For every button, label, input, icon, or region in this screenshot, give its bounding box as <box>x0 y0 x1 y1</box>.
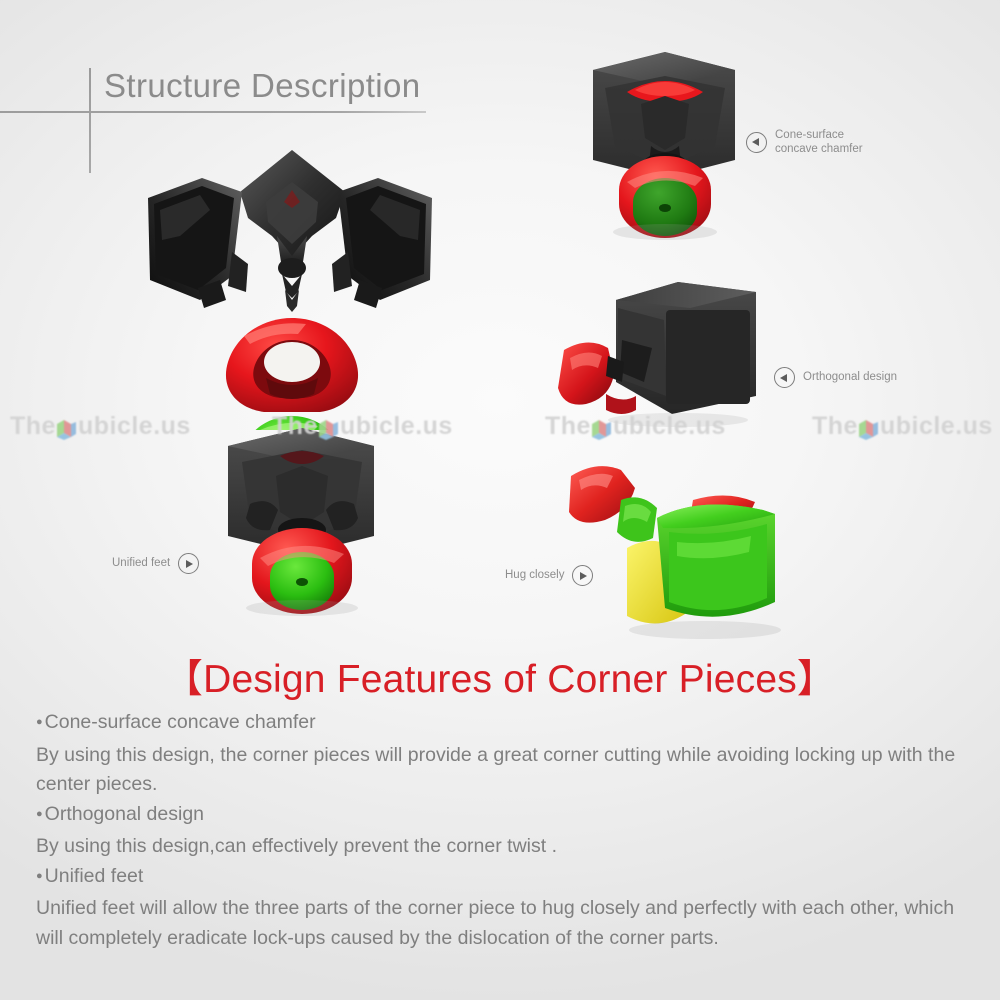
watermark-suffix: ubicle.us <box>340 412 453 441</box>
watermark-prefix: The <box>812 412 858 441</box>
callout-orthogonal-design[interactable]: Orthogonal design <box>774 367 897 388</box>
feature-text-2: By using this design,can effectively pre… <box>36 832 971 862</box>
watermark: The ubicle.us <box>545 412 726 441</box>
watermark-prefix: The <box>272 412 318 441</box>
watermark-suffix: ubicle.us <box>880 412 993 441</box>
feature-bullet-3: Unified feet <box>36 862 971 895</box>
figure-orthogonal-piece <box>548 278 778 428</box>
feature-text-1: By using this design, the corner pieces … <box>36 741 971 800</box>
cube-logo-icon <box>591 418 612 439</box>
cube-logo-icon <box>318 418 339 439</box>
play-right-icon[interactable] <box>572 565 593 586</box>
part-black-right <box>332 178 432 308</box>
header-vertical-rule <box>89 68 91 173</box>
page-title: Structure Description <box>104 67 421 105</box>
callout-unified-feet[interactable]: Unified feet <box>112 553 199 574</box>
watermark: The ubicle.us <box>272 412 453 441</box>
part-red-ring <box>226 318 358 412</box>
callout-ortho-label: Orthogonal design <box>803 370 897 384</box>
callout-cone-label: Cone-surface concave chamfer <box>775 128 863 157</box>
header-horizontal-rule <box>0 111 426 113</box>
cube-logo-icon <box>858 418 879 439</box>
play-right-icon[interactable] <box>178 553 199 574</box>
feature-bullet-1: Cone-surface concave chamfer <box>36 708 971 741</box>
callout-hug-closely[interactable]: Hug closely <box>505 565 593 586</box>
figure-hug-closely-piece <box>565 452 815 642</box>
figure-cone-chamfer-piece <box>565 42 765 252</box>
watermark-prefix: The <box>545 412 591 441</box>
feature-text-3: Unified feet will allow the three parts … <box>36 894 971 953</box>
feature-bullet-2: Orthogonal design <box>36 800 971 833</box>
callout-hug-label: Hug closely <box>505 568 564 582</box>
play-left-icon[interactable] <box>746 132 767 153</box>
watermark: The ubicle.us <box>812 412 993 441</box>
figure-exploded-corner-piece <box>140 140 440 430</box>
part-black-left <box>148 178 248 308</box>
watermark-suffix: ubicle.us <box>78 412 191 441</box>
cube-logo-icon <box>56 418 77 439</box>
watermark: The ubicle.us <box>10 412 191 441</box>
section-heading: 【Design Features of Corner Pieces】 <box>0 648 1000 704</box>
figure-unified-feet-piece <box>202 418 402 618</box>
callout-cone-surface-concave-chamfer[interactable]: Cone-surface concave chamfer <box>746 128 863 157</box>
infographic-page: Structure Description <box>0 0 1000 1000</box>
play-left-icon[interactable] <box>774 367 795 388</box>
part-black-top <box>240 150 345 312</box>
watermark-prefix: The <box>10 412 56 441</box>
watermark-suffix: ubicle.us <box>613 412 726 441</box>
callout-feet-label: Unified feet <box>112 556 170 570</box>
body-copy: Cone-surface concave chamfer By using th… <box>36 708 971 953</box>
